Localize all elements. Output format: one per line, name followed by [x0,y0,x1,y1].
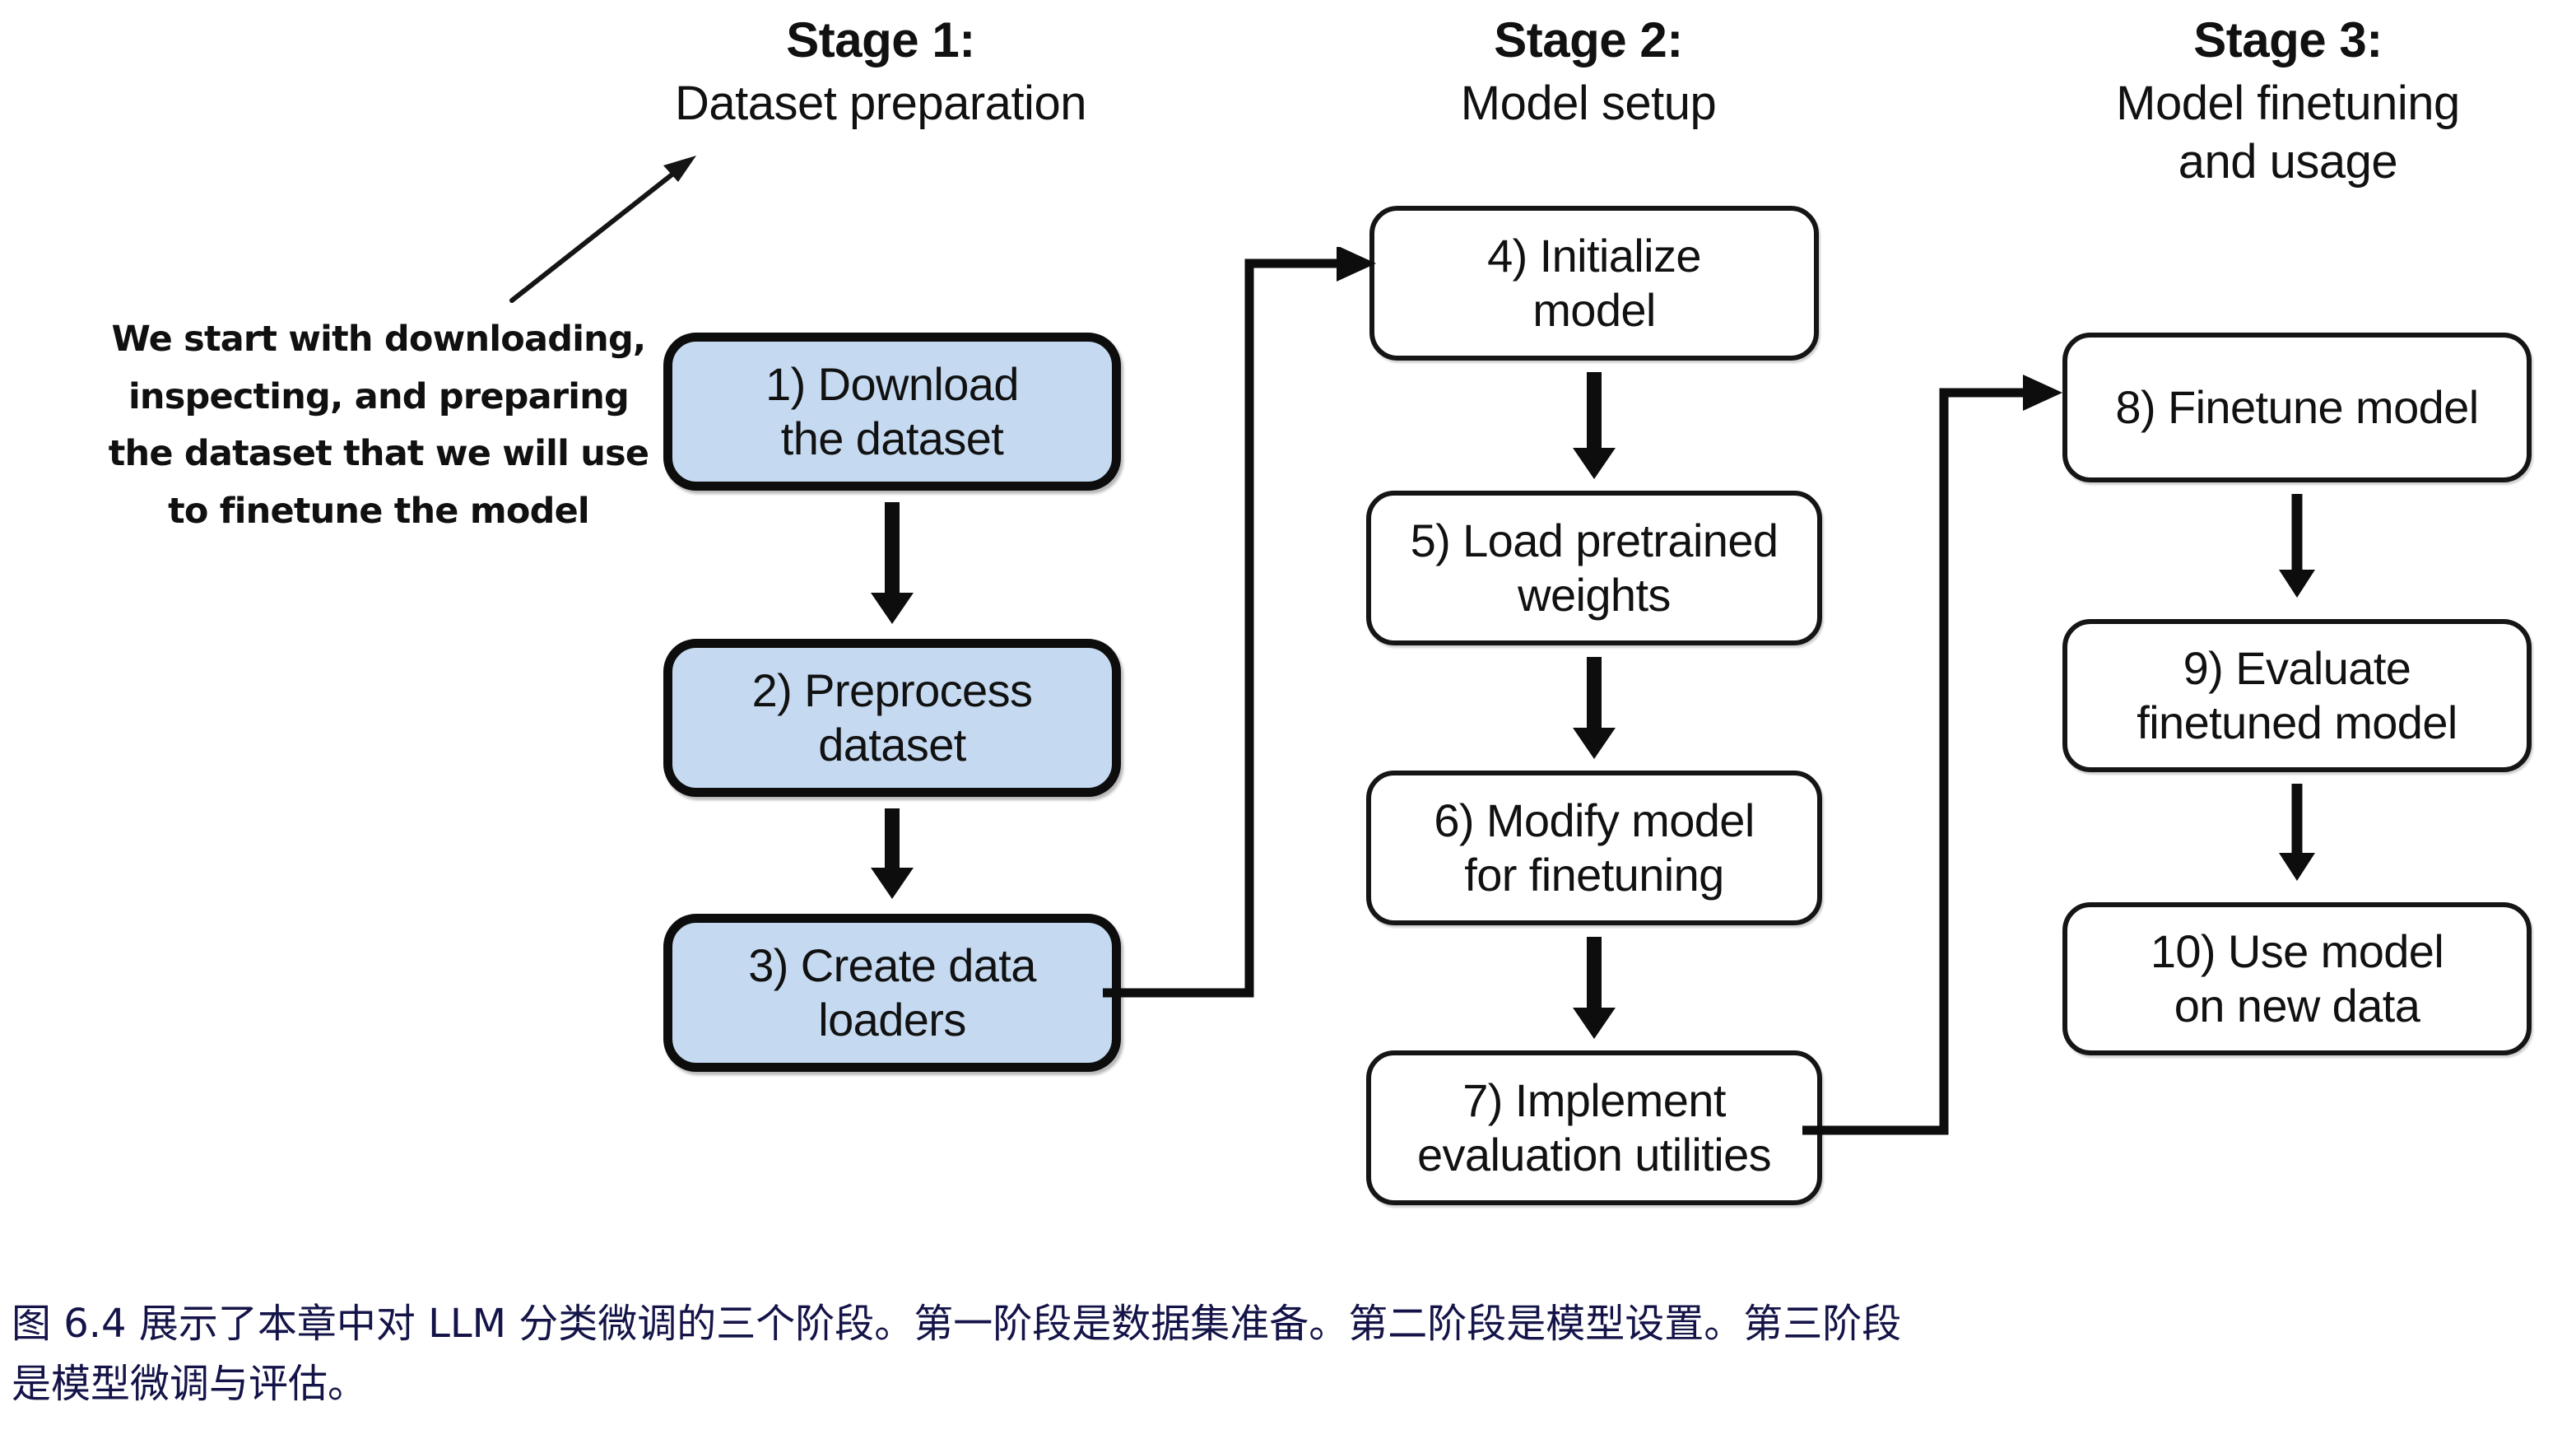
flow-node-1-download-the-dataset[interactable]: 1) Download the dataset [663,333,1121,491]
flow-node-10-line-2: on new data [2151,979,2443,1033]
stage-3-subtitle-line-2: and usage [2025,133,2551,192]
flow-node-5-line-2: weights [1411,568,1779,622]
flow-node-10-line-1: 10) Use model [2151,924,2443,979]
flow-node-2-line-1: 2) Preprocess [752,664,1033,718]
flow-node-8-line-1: 8) Finetune model [2115,380,2478,435]
stage-1-header: Stage 1: Dataset preparation [634,10,1128,133]
flow-node-9-evaluate-finetuned-model[interactable]: 9) Evaluate finetuned model [2062,619,2532,772]
annotation-line-5: the model [394,491,589,532]
flow-node-3-line-2: loaders [748,993,1036,1047]
figure-caption: 图 6.4 展示了本章中对 LLM 分类微调的三个阶段。第一阶段是数据集准备。第… [12,1294,2571,1414]
flow-node-4-initialize-model[interactable]: 4) Initialize model [1369,206,1819,361]
flow-node-7-implement-evaluation-utilities[interactable]: 7) Implement evaluation utilities [1366,1050,1822,1205]
figure-caption-line-1: 图 6.4 展示了本章中对 LLM 分类微调的三个阶段。第一阶段是数据集准备。第… [12,1294,2571,1354]
flow-node-2-line-2: dataset [752,718,1033,772]
stage-2-subtitle: Model setup [1350,75,1827,133]
flow-node-6-line-1: 6) Modify model [1434,794,1754,848]
annotation-line-1: We start with [112,319,373,360]
flow-node-4-line-2: model [1487,283,1701,338]
annotation-note: We start with downloading, inspecting, a… [91,311,667,541]
flow-node-5-line-1: 5) Load pretrained [1411,514,1779,568]
stage-1-subtitle: Dataset preparation [634,75,1128,133]
connector-node-3-to-node-4-icon [1103,247,1399,1037]
stage-3-subtitle-line-1: Model finetuning [2025,75,2551,133]
flow-node-2-preprocess-dataset[interactable]: 2) Preprocess dataset [663,639,1121,797]
flow-node-6-modify-model-for-finetuning[interactable]: 6) Modify model for finetuning [1366,771,1822,925]
flow-node-6-line-2: for finetuning [1434,848,1754,902]
flow-node-8-finetune-model[interactable]: 8) Finetune model [2062,333,2532,482]
flow-node-7-line-1: 7) Implement [1417,1073,1771,1128]
flow-node-7-line-2: evaluation utilities [1417,1128,1771,1182]
flow-node-5-load-pretrained-weights[interactable]: 5) Load pretrained weights [1366,491,1822,645]
stage-2-header: Stage 2: Model setup [1350,10,1827,133]
flow-node-3-create-data-loaders[interactable]: 3) Create data loaders [663,914,1121,1072]
annotation-pointer-arrow-icon [502,144,708,309]
flow-node-1-line-1: 1) Download [765,357,1019,412]
flow-node-1-line-2: the dataset [765,412,1019,466]
figure-caption-line-2: 是模型微调与评估。 [12,1354,2571,1414]
flow-node-4-line-1: 4) Initialize [1487,229,1701,283]
flow-node-9-line-1: 9) Evaluate [2137,641,2457,696]
connector-node-7-to-node-8-icon [1802,375,2082,1148]
stage-2-title: Stage 2: [1350,10,1827,70]
flow-node-9-line-2: finetuned model [2137,696,2457,750]
stage-3-header: Stage 3: Model finetuning and usage [2025,10,2551,192]
stage-3-title: Stage 3: [2025,10,2551,70]
stage-1-title: Stage 1: [634,10,1128,70]
flowchart-figure: Stage 1: Dataset preparation Stage 2: Mo… [0,0,2576,1274]
flow-node-3-line-1: 3) Create data [748,938,1036,993]
flow-node-10-use-model-on-new-data[interactable]: 10) Use model on new data [2062,902,2532,1055]
